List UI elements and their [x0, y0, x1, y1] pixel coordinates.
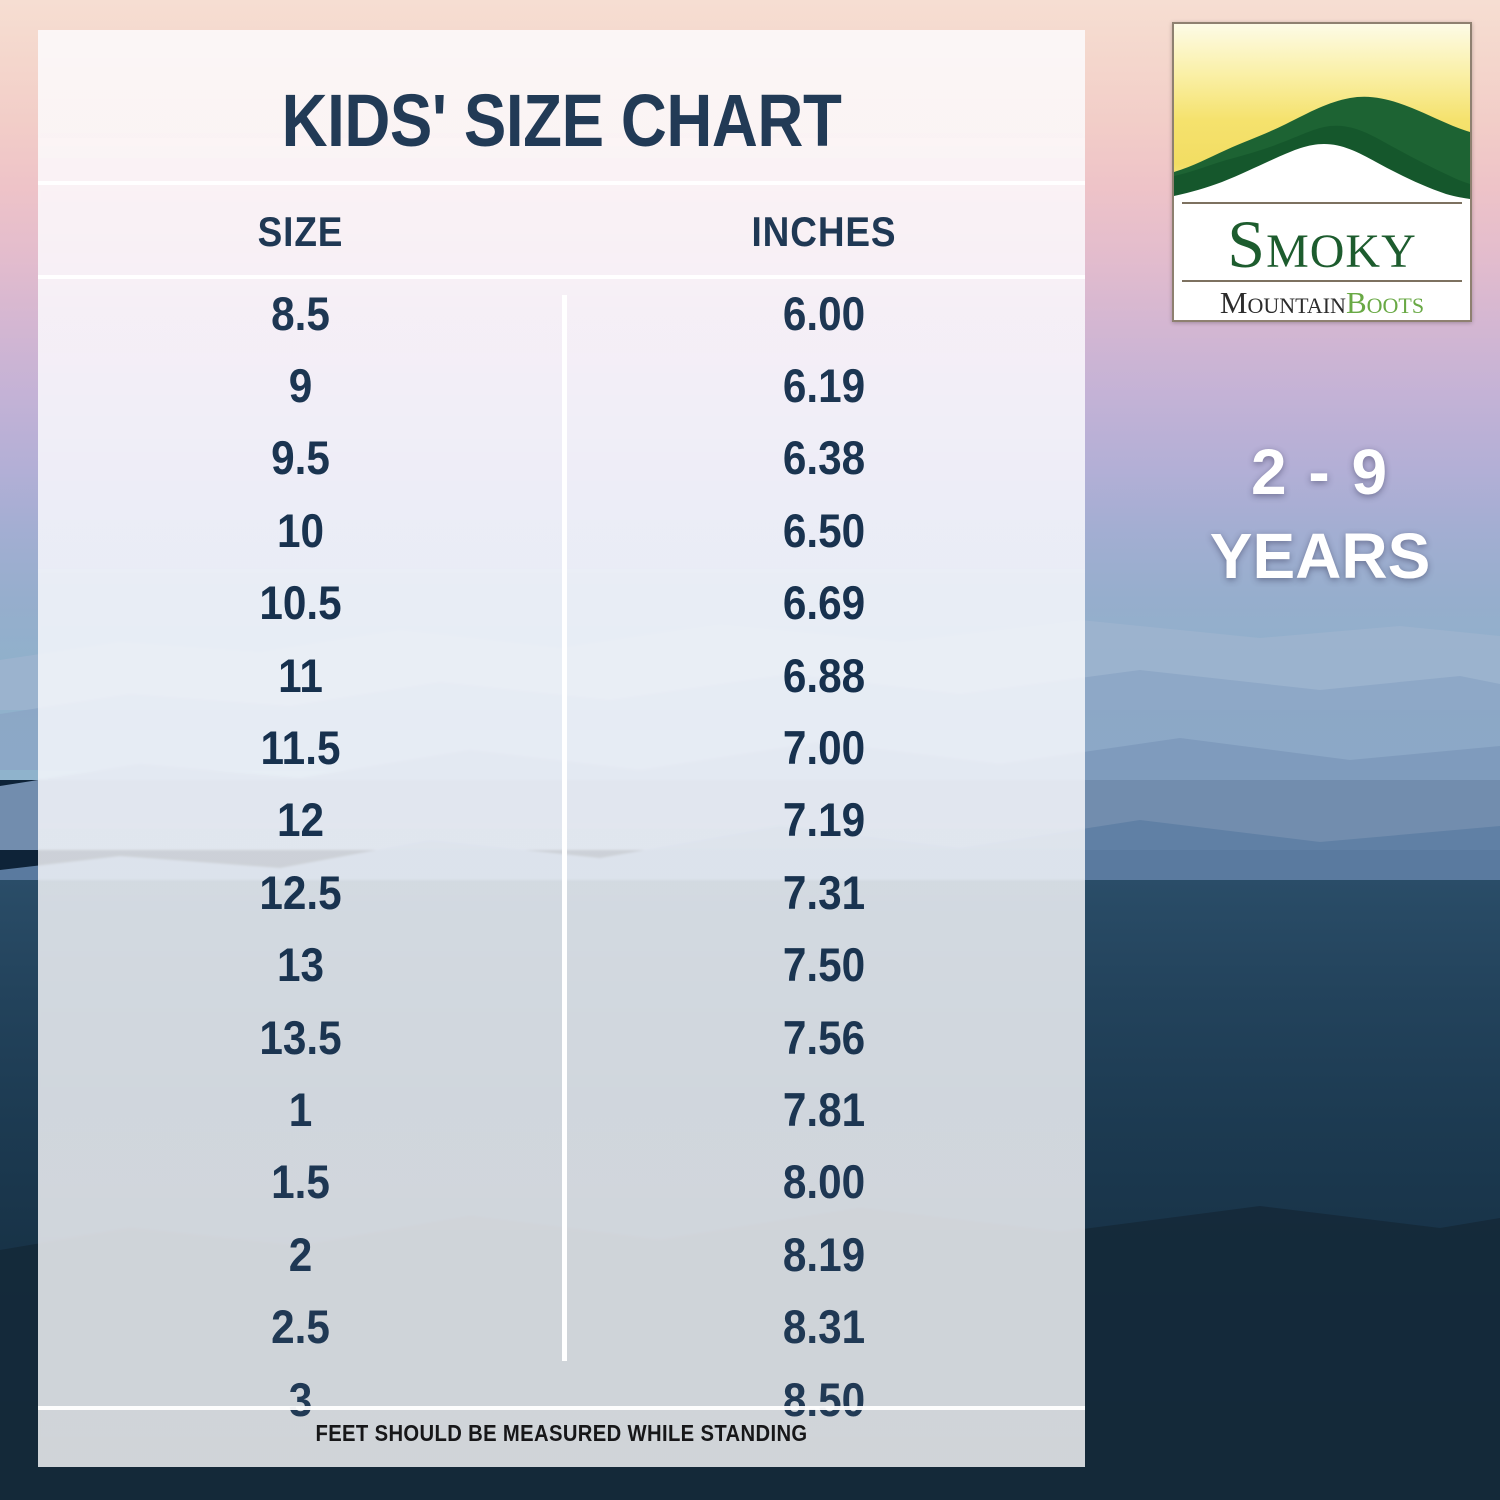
logo-word-boots: Boots [1346, 285, 1424, 320]
logo-word-mountain: Mountain [1220, 285, 1346, 320]
cell-size: 1.5 [64, 1154, 537, 1209]
divider-footer [38, 1406, 1085, 1410]
table-row: 13.57.56 [38, 1001, 1085, 1073]
cell-inches: 7.31 [589, 865, 1059, 920]
cell-inches: 7.50 [589, 937, 1059, 992]
cell-size: 3 [64, 1372, 537, 1427]
cell-inches: 6.50 [589, 503, 1059, 558]
table-row: 8.56.00 [38, 277, 1085, 349]
cell-inches: 7.19 [589, 792, 1059, 847]
cell-inches: 6.00 [589, 286, 1059, 341]
measurement-note: FEET SHOULD BE MEASURED WHILE STANDING [101, 1420, 1022, 1447]
cell-size: 2 [64, 1227, 537, 1282]
cell-size: 12 [64, 792, 537, 847]
size-table-body: 8.56.0096.199.56.38106.5010.56.69116.881… [38, 277, 1085, 1435]
table-row: 137.50 [38, 929, 1085, 1001]
cell-size: 13.5 [64, 1010, 537, 1065]
page-title: KIDS' SIZE CHART [111, 78, 1011, 163]
table-row: 10.56.69 [38, 567, 1085, 639]
logo-rule-top [1182, 202, 1462, 204]
cell-inches: 8.00 [589, 1154, 1059, 1209]
age-range-badge: 2 - 9 YEARS [1150, 430, 1490, 599]
table-row: 9.56.38 [38, 422, 1085, 494]
cell-inches: 8.19 [589, 1227, 1059, 1282]
table-row: 2.58.31 [38, 1290, 1085, 1362]
cell-inches: 6.19 [589, 358, 1059, 413]
cell-inches: 6.69 [589, 575, 1059, 630]
cell-size: 12.5 [64, 865, 537, 920]
table-row: 116.88 [38, 639, 1085, 711]
cell-size: 13 [64, 937, 537, 992]
mountain-sunrise-icon [1174, 24, 1470, 199]
brand-logo[interactable]: Smoky MountainBoots [1172, 22, 1472, 322]
table-row: 11.57.00 [38, 711, 1085, 783]
table-row: 1.58.00 [38, 1146, 1085, 1218]
cell-size: 11.5 [64, 720, 537, 775]
table-row: 28.19 [38, 1218, 1085, 1290]
column-header-size: SIZE [70, 208, 532, 256]
logo-rule-bottom [1182, 280, 1462, 282]
size-chart-card: KIDS' SIZE CHART SIZE INCHES 8.56.0096.1… [38, 30, 1085, 1467]
table-row: 12.57.31 [38, 856, 1085, 928]
cell-size: 8.5 [64, 286, 537, 341]
cell-inches: 8.50 [589, 1372, 1059, 1427]
cell-inches: 7.00 [589, 720, 1059, 775]
cell-inches: 8.31 [589, 1299, 1059, 1354]
age-range-line2: YEARS [1150, 514, 1490, 598]
divider-title [38, 181, 1085, 185]
cell-size: 1 [64, 1082, 537, 1137]
cell-size: 10 [64, 503, 537, 558]
table-row: 17.81 [38, 1073, 1085, 1145]
logo-brand-primary: Smoky [1174, 210, 1470, 278]
cell-size: 2.5 [64, 1299, 537, 1354]
cell-size: 10.5 [64, 575, 537, 630]
age-range-line1: 2 - 9 [1150, 430, 1490, 514]
cell-size: 9 [64, 358, 537, 413]
logo-brand-secondary: MountainBoots [1174, 286, 1470, 320]
cell-inches: 7.81 [589, 1082, 1059, 1137]
cell-inches: 6.88 [589, 648, 1059, 703]
table-row: 127.19 [38, 784, 1085, 856]
table-row: 96.19 [38, 349, 1085, 421]
cell-inches: 7.56 [589, 1010, 1059, 1065]
cell-size: 11 [64, 648, 537, 703]
table-row: 106.50 [38, 494, 1085, 566]
cell-size: 9.5 [64, 430, 537, 485]
column-header-inches: INCHES [594, 208, 1053, 256]
cell-inches: 6.38 [589, 430, 1059, 485]
